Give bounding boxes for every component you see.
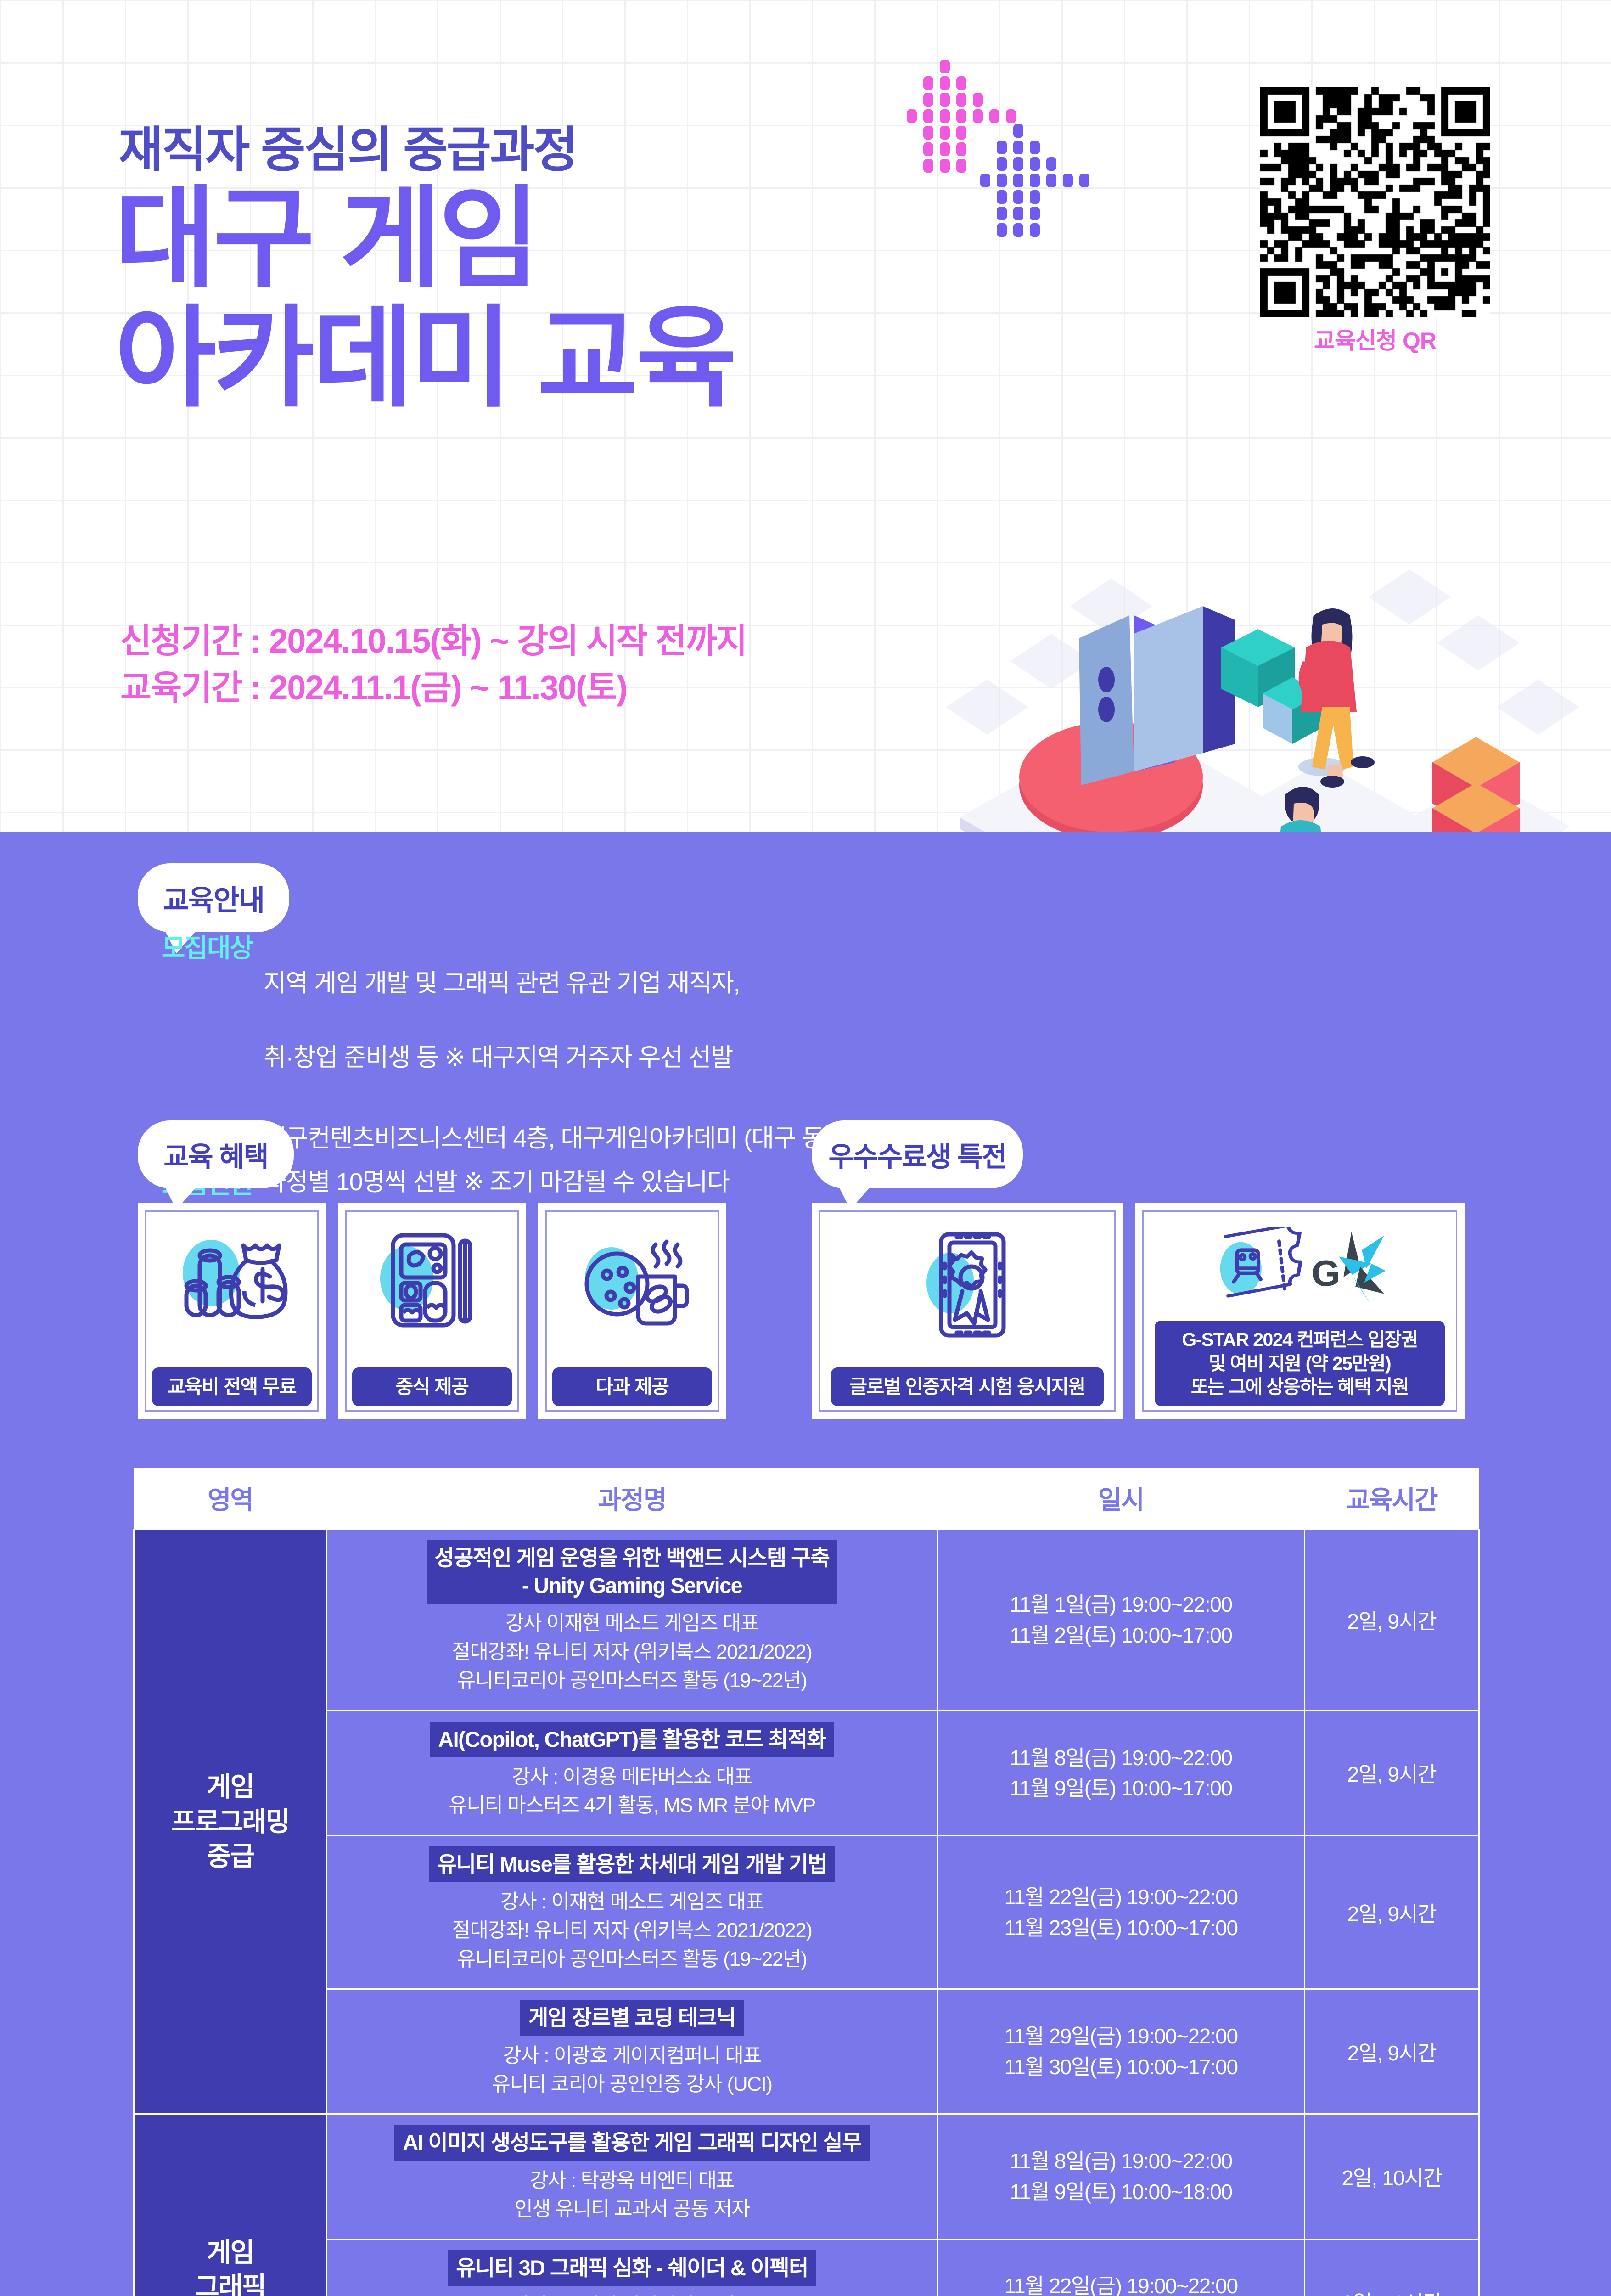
special-card-gstar[interactable]: G G-STAR 2024 컨퍼런스 입장권 및 여비 지원 (약 25만원) … [1135,1203,1465,1419]
guide-label-target: 모집대상 [138,928,253,965]
bubble-benefits: 교육 혜택 [138,1120,294,1188]
period-block: 신청기간 : 2024.10.15(화) ~ 강의 시작 전까지 교육기간 : … [120,618,747,711]
kicker-text: 재직자 중심의 중급과정 [118,110,577,181]
table-row: 게임 장르별 코딩 테크닉강사 : 이광호 게이지컴퍼니 대표 유니티 코리아 … [134,1989,1479,2114]
course-name-cell: AI(Copilot, ChatGPT)를 활용한 코드 최적화강사 : 이경용… [327,1711,937,1835]
benefit-label-snack: 다과 제공 [552,1367,712,1407]
th-date: 일시 [937,1468,1305,1530]
lunch-box-icon [375,1227,489,1333]
course-name-cell: 유니티 Muse를 활용한 차세대 게임 개발 기법강사 : 이재현 메소드 게… [327,1835,937,1989]
bubble-guide: 교육안내 [138,863,289,932]
course-title: 유니티 3D 그래픽 심화 - 쉐이더 & 이펙터 [448,2250,816,2286]
th-course: 과정명 [327,1468,937,1530]
bubble-guide-label: 교육안내 [163,877,264,918]
table-body: 게임 프로그래밍 중급성공적인 게임 운영을 위한 백앤드 시스템 구축 - U… [134,1530,1479,2296]
guide-value-target-line1: 지역 게임 개발 및 그래픽 관련 유관 기업 재직자, [264,965,740,1002]
table-row: 게임 그래픽 중급AI 이미지 생성도구를 활용한 게임 그래픽 디자인 실무강… [134,2114,1479,2239]
course-meta: 강사 : 윤석인 이니티랩스 대표 유니티 국제 공모전 참가 HDRP 쉐이더 [332,2291,932,2296]
special-card-certification[interactable]: 글로벌 인증자격 시험 응시지원 [812,1203,1123,1419]
course-area-cell: 게임 그래픽 중급 [134,2114,327,2296]
course-meta: 강사 : 탁광욱 비엔티 대표 인생 유니티 교과서 공동 저자 [332,2167,932,2227]
edu-period: 교육기간 : 2024.11.1(금) ~ 11.30(토) [120,664,747,711]
course-title: 성공적인 게임 운영을 위한 백앤드 시스템 구축 - Unity Gaming… [427,1540,838,1604]
course-hours-cell: 2일, 10시간 [1305,2114,1479,2239]
course-meta: 강사 이재현 메소드 게임즈 대표 절대강좌! 유니티 저자 (위키북스 202… [332,1609,932,1698]
bubble-benefits-label: 교육 혜택 [163,1135,268,1175]
header-section: 재직자 중심의 중급과정 대구 게임 아카데미 교육 교육신청 QR 신청기간 … [0,0,1611,832]
course-title: 유니티 Muse를 활용한 차세대 게임 개발 기법 [429,1846,835,1882]
course-area-cell: 게임 프로그래밍 중급 [134,1530,327,2114]
guide-row-target: 모집대상 지역 게임 개발 및 그래픽 관련 유관 기업 재직자, 취·창업 준… [138,928,994,1114]
table-row: 게임 프로그래밍 중급성공적인 게임 운영을 위한 백앤드 시스템 구축 - U… [134,1530,1479,1711]
course-hours-cell: 2일, 9시간 [1305,1835,1479,1989]
special-label-certification: 글로벌 인증자격 시험 응시지원 [831,1367,1104,1407]
course-hours-cell: 2일, 9시간 [1305,1711,1479,1835]
poster-title-line2: 아카데미 교육 [115,303,734,413]
course-title: 게임 장르별 코딩 테크닉 [520,2000,744,2036]
qr-code[interactable] [1260,87,1490,317]
table-row: 유니티 Muse를 활용한 차세대 게임 개발 기법강사 : 이재현 메소드 게… [134,1835,1479,1989]
th-hours: 교육시간 [1305,1468,1479,1530]
course-hours-cell: 2일, 9시간 [1305,1989,1479,2114]
benefit-card-lunch[interactable]: 중식 제공 [338,1203,526,1419]
guide-value-capacity: 과정별 10명씩 선발 ※ 조기 마감될 수 있습니다 [264,1164,729,1201]
hero-illustration [918,569,1584,832]
course-meta: 강사 : 이경용 메타버스쇼 대표 유니티 마스터즈 4기 활동, MS MR … [332,1763,932,1823]
qr-block: 교육신청 QR [1260,87,1490,355]
course-name-cell: AI 이미지 생성도구를 활용한 게임 그래픽 디자인 실무강사 : 탁광욱 비… [327,2114,937,2239]
special-label-gstar: G-STAR 2024 컨퍼런스 입장권 및 여비 지원 (약 25만원) 또는… [1155,1321,1444,1406]
table-header-row: 영역 과정명 일시 교육시간 [134,1468,1479,1530]
course-name-cell: 성공적인 게임 운영을 위한 백앤드 시스템 구축 - Unity Gaming… [327,1530,937,1711]
course-hours-cell: 2일, 9시간 [1305,1530,1479,1711]
table-row: AI(Copilot, ChatGPT)를 활용한 코드 최적화강사 : 이경용… [134,1711,1479,1835]
benefit-cards: 교육비 전액 무료 [138,1203,726,1419]
course-title: AI 이미지 생성도구를 활용한 게임 그래픽 디자인 실무 [394,2125,869,2161]
money-bag-icon [174,1227,289,1333]
special-cards: 글로벌 인증자격 시험 응시지원 G [812,1203,1465,1419]
certificate-icon [915,1227,1020,1342]
course-hours-cell: 2일, 10시간 [1305,2239,1479,2296]
course-meta: 강사 : 이재현 메소드 게임즈 대표 절대강좌! 유니티 저자 (위키북스 2… [332,1888,932,1976]
table-row: 유니티 3D 그래픽 심화 - 쉐이더 & 이펙터강사 : 윤석인 이니티랩스 … [134,2239,1479,2296]
course-table: 영역 과정명 일시 교육시간 게임 프로그래밍 중급성공적인 게임 운영을 위한… [133,1468,1480,2296]
apply-period: 신청기간 : 2024.10.15(화) ~ 강의 시작 전까지 [120,618,747,664]
th-area: 영역 [134,1468,327,1530]
course-date-cell: 11월 1일(금) 19:00~22:00 11월 2일(토) 10:00~17… [937,1530,1305,1711]
course-date-cell: 11월 29일(금) 19:00~22:00 11월 30일(토) 10:00~… [937,1989,1305,2114]
svg-text:G: G [1312,1253,1340,1294]
cookie-coffee-icon [575,1227,690,1333]
guide-value-target-line2: 취·창업 준비생 등 ※ 대구지역 거주자 우선 선발 [264,1039,740,1076]
qr-label: 교육신청 QR [1260,322,1490,355]
course-date-cell: 11월 8일(금) 19:00~22:00 11월 9일(토) 10:00~18… [937,2114,1305,2239]
benefit-card-snack[interactable]: 다과 제공 [538,1203,726,1419]
course-name-cell: 게임 장르별 코딩 테크닉강사 : 이광호 게이지컴퍼니 대표 유니티 코리아 … [327,1989,937,2114]
course-date-cell: 11월 8일(금) 19:00~22:00 11월 9일(토) 10:00~17… [937,1711,1305,1835]
course-title: AI(Copilot, ChatGPT)를 활용한 코드 최적화 [430,1722,834,1757]
benefit-label-tuition: 교육비 전액 무료 [152,1367,312,1407]
bubble-specials: 우수수료생 특전 [812,1120,1023,1188]
bubble-specials-label: 우수수료생 특전 [828,1135,1006,1175]
course-meta: 강사 : 이광호 게이지컴퍼니 대표 유니티 코리아 공인인증 강사 (UCI) [332,2042,932,2102]
course-date-cell: 11월 22일(금) 19:00~22:00 11월 23일(토) 10:00~… [937,2239,1305,2296]
course-name-cell: 유니티 3D 그래픽 심화 - 쉐이더 & 이펙터강사 : 윤석인 이니티랩스 … [327,2239,937,2296]
benefit-label-lunch: 중식 제공 [352,1367,512,1407]
poster-title-line1: 대구 게임 [115,184,537,294]
gstar-ticket-icon: G [1199,1227,1401,1312]
benefit-card-tuition[interactable]: 교육비 전액 무료 [138,1203,326,1419]
guide-value-target: 지역 게임 개발 및 그래픽 관련 유관 기업 재직자, 취·창업 준비생 등 … [264,928,740,1114]
poster-root: 재직자 중심의 중급과정 대구 게임 아카데미 교육 교육신청 QR 신청기간 … [0,0,1611,2296]
course-date-cell: 11월 22일(금) 19:00~22:00 11월 23일(토) 10:00~… [937,1835,1305,1989]
